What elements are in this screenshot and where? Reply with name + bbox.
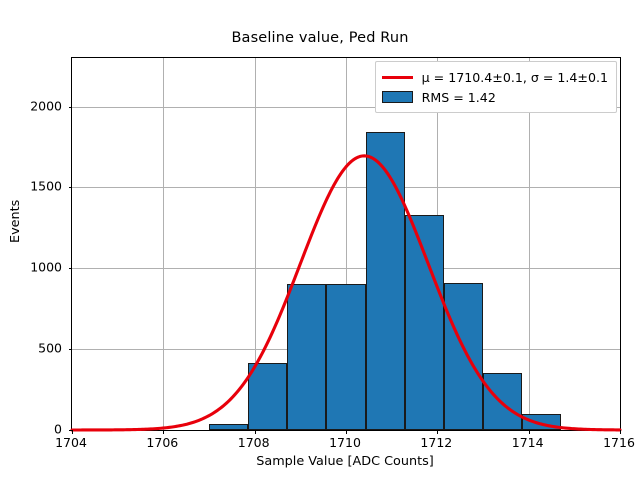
x-tick-label: 1704: [55, 435, 87, 450]
legend-label-fit: μ = 1710.4±0.1, σ = 1.4±0.1: [422, 70, 608, 85]
x-tick-label: 1714: [512, 435, 544, 450]
x-tick-label: 1716: [603, 435, 635, 450]
y-tick-label: 2000: [62, 98, 94, 113]
x-tick-mark: [437, 430, 438, 434]
x-tick-label: 1706: [146, 435, 178, 450]
x-tick-mark: [529, 430, 530, 434]
legend-line-swatch-icon: [382, 76, 413, 79]
y-tick-label: 500: [62, 341, 86, 356]
x-axis-label: Sample Value [ADC Counts]: [71, 454, 619, 469]
y-tick-label: 1500: [62, 179, 94, 194]
x-tick-mark: [255, 430, 256, 434]
y-tick-label: 1000: [62, 260, 94, 275]
chart-title: Baseline value, Ped Run: [0, 30, 640, 46]
x-tick-mark: [620, 430, 621, 434]
legend-item-histogram: RMS = 1.42: [382, 87, 608, 107]
chart-legend: μ = 1710.4±0.1, σ = 1.4±0.1 RMS = 1.42: [375, 61, 617, 113]
x-tick-label: 1710: [329, 435, 361, 450]
legend-patch-swatch-icon: [382, 91, 413, 103]
x-tick-label: 1708: [238, 435, 270, 450]
y-tick-label: 0: [62, 422, 70, 437]
plot-axes: μ = 1710.4±0.1, σ = 1.4±0.1 RMS = 1.42: [71, 57, 621, 431]
legend-label-histogram: RMS = 1.42: [422, 90, 496, 105]
x-tick-mark: [346, 430, 347, 434]
tick-marks-layer: [72, 58, 620, 430]
matplotlib-figure: Baseline value, Ped Run μ = 1710.4±0.1, …: [0, 0, 640, 480]
legend-item-fit: μ = 1710.4±0.1, σ = 1.4±0.1: [382, 67, 608, 87]
x-tick-label: 1712: [420, 435, 452, 450]
x-tick-mark: [72, 430, 73, 434]
x-tick-mark: [163, 430, 164, 434]
y-axis-label: Events: [8, 200, 23, 243]
